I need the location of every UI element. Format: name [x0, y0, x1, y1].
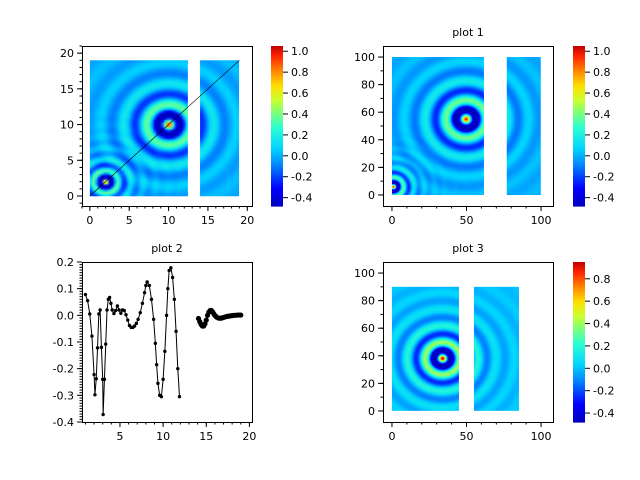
colorbar: [573, 262, 585, 423]
panel-title: plot 3: [452, 242, 484, 255]
heatmap-patch: [392, 57, 484, 195]
colorbar-tick-label: 0.4: [593, 108, 611, 121]
data-marker: [204, 318, 209, 323]
colorbar-tick-label: 0.8: [291, 66, 309, 79]
heatmap-patch: [90, 60, 188, 196]
data-marker: [96, 346, 99, 349]
colorbar-tick-label: 0.0: [291, 150, 309, 163]
data-marker: [135, 322, 138, 325]
top-left-image-plot: 0510152005101520-0.4-0.20.00.20.40.60.81…: [0, 0, 320, 240]
colorbar-tick-label: 1.0: [291, 45, 309, 58]
colorbar-tick-label: 0.8: [593, 273, 611, 286]
colorbar-tick-label: -0.2: [291, 171, 312, 184]
data-marker: [98, 308, 101, 311]
colorbar-tick-label: 0.2: [291, 129, 309, 142]
y-tick-label: 15: [60, 83, 74, 96]
y-tick-label: 10: [60, 119, 74, 132]
colorbar: [573, 46, 585, 207]
heatmap-patch: [474, 287, 519, 411]
y-tick-label: 40: [361, 134, 375, 147]
data-marker: [109, 302, 112, 305]
x-tick-label: 5: [116, 430, 123, 443]
x-tick-label: 20: [240, 214, 254, 227]
x-tick-label: 100: [531, 214, 552, 227]
data-marker: [104, 342, 107, 345]
y-tick-label: -0.1: [53, 336, 74, 349]
y-tick-label: 0.1: [57, 283, 75, 296]
heatmap-patch: [200, 60, 239, 196]
data-marker: [95, 377, 98, 380]
data-marker: [154, 342, 157, 345]
y-tick-label: -0.3: [53, 389, 74, 402]
data-marker: [161, 378, 164, 381]
y-tick-label: 0: [368, 405, 375, 418]
data-marker: [144, 284, 147, 287]
y-tick-label: 80: [361, 295, 375, 308]
x-tick-label: 50: [460, 430, 474, 443]
data-marker: [97, 312, 100, 315]
heatmap-patch: [392, 287, 459, 411]
data-marker: [174, 330, 177, 333]
colorbar-tick-label: 0.2: [593, 129, 611, 142]
data-marker: [108, 296, 111, 299]
colorbar-tick-label: 0.6: [291, 87, 309, 100]
data-marker: [84, 293, 87, 296]
data-marker: [124, 313, 127, 316]
data-marker: [171, 276, 174, 279]
data-marker: [111, 308, 114, 311]
colorbar-tick-label: 0.0: [593, 362, 611, 375]
axes-frame: [83, 263, 253, 423]
colorbar-tick-label: 0.0: [593, 150, 611, 163]
data-line-segment-a: [85, 268, 179, 415]
data-marker: [145, 280, 148, 283]
data-marker: [155, 363, 158, 366]
bottom-right-image-plot: plot 3050100020406080100-0.4-0.20.00.20.…: [320, 240, 640, 480]
colorbar-tick-label: -0.2: [593, 171, 614, 184]
data-marker: [238, 312, 243, 317]
x-tick-label: 20: [242, 430, 256, 443]
x-tick-label: 0: [388, 430, 395, 443]
data-marker: [160, 395, 163, 398]
data-marker: [176, 367, 179, 370]
data-marker: [86, 299, 89, 302]
data-marker: [141, 302, 144, 305]
y-tick-label: 40: [361, 350, 375, 363]
data-marker: [143, 291, 146, 294]
y-tick-label: -0.2: [53, 363, 74, 376]
heatmap-patch: [507, 57, 541, 195]
y-tick-label: 5: [67, 154, 74, 167]
colorbar-tick-label: -0.4: [593, 192, 614, 205]
colorbar-tick-label: 0.4: [593, 318, 611, 331]
data-marker: [123, 309, 126, 312]
colorbar-tick-label: 0.8: [593, 66, 611, 79]
data-marker: [100, 346, 103, 349]
data-marker: [93, 393, 96, 396]
data-marker: [105, 308, 108, 311]
data-marker: [139, 311, 142, 314]
data-marker: [169, 266, 172, 269]
data-marker: [114, 309, 117, 312]
colorbar-tick-label: 0.6: [593, 87, 611, 100]
panel-title: plot 2: [151, 242, 183, 255]
data-marker: [136, 318, 139, 321]
y-tick-label: 20: [361, 377, 375, 390]
y-tick-label: 0: [67, 190, 74, 203]
data-marker: [163, 350, 166, 353]
colorbar-tick-label: 0.6: [593, 295, 611, 308]
panel-title: plot 1: [452, 26, 484, 39]
y-tick-label: -0.4: [53, 416, 74, 429]
y-tick-label: 0.2: [57, 256, 75, 269]
data-marker: [90, 334, 93, 337]
data-marker: [152, 318, 155, 321]
colorbar: [271, 46, 283, 207]
data-marker: [165, 314, 168, 317]
x-tick-label: 5: [126, 214, 133, 227]
bottom-left-line-plot: plot 25101520-0.4-0.3-0.2-0.10.00.10.2: [0, 240, 320, 480]
data-marker: [101, 413, 104, 416]
colorbar-tick-label: 0.2: [593, 340, 611, 353]
colorbar-band: [573, 421, 585, 423]
y-tick-label: 60: [361, 322, 375, 335]
y-tick-label: 100: [354, 267, 375, 280]
colorbar-tick-label: 0.4: [291, 108, 309, 121]
y-tick-label: 100: [354, 51, 375, 64]
x-tick-label: 0: [86, 214, 93, 227]
data-marker: [150, 298, 153, 301]
y-tick-label: 20: [361, 161, 375, 174]
colorbar-band: [573, 205, 585, 207]
x-tick-label: 100: [531, 430, 552, 443]
x-tick-label: 10: [162, 214, 176, 227]
y-tick-label: 20: [60, 47, 74, 60]
data-marker: [178, 395, 181, 398]
colorbar-tick-label: 1.0: [593, 45, 611, 58]
data-marker: [119, 312, 122, 315]
figure-canvas: 0510152005101520-0.4-0.20.00.20.40.60.81…: [0, 0, 640, 480]
colorbar-tick-label: -0.4: [593, 407, 614, 420]
y-tick-label: 0: [368, 189, 375, 202]
colorbar-tick-label: -0.2: [593, 385, 614, 398]
top-right-image-plot: plot 1050100020406080100-0.4-0.20.00.20.…: [320, 0, 640, 240]
x-tick-label: 50: [460, 214, 474, 227]
colorbar-tick-label: -0.4: [291, 192, 312, 205]
data-marker: [156, 382, 159, 385]
x-tick-label: 15: [199, 430, 213, 443]
data-marker: [112, 312, 115, 315]
x-tick-label: 15: [201, 214, 215, 227]
data-marker: [173, 298, 176, 301]
data-marker: [92, 373, 95, 376]
x-tick-label: 0: [388, 214, 395, 227]
data-marker: [126, 318, 129, 321]
data-marker: [88, 312, 91, 315]
y-tick-label: 60: [361, 106, 375, 119]
data-marker: [117, 308, 120, 311]
data-marker: [116, 304, 119, 307]
x-tick-label: 10: [156, 430, 170, 443]
y-tick-label: 80: [361, 79, 375, 92]
data-marker: [148, 284, 151, 287]
colorbar-band: [271, 205, 283, 207]
data-marker: [166, 287, 169, 290]
y-tick-label: 0.0: [57, 309, 75, 322]
data-marker: [103, 378, 106, 381]
